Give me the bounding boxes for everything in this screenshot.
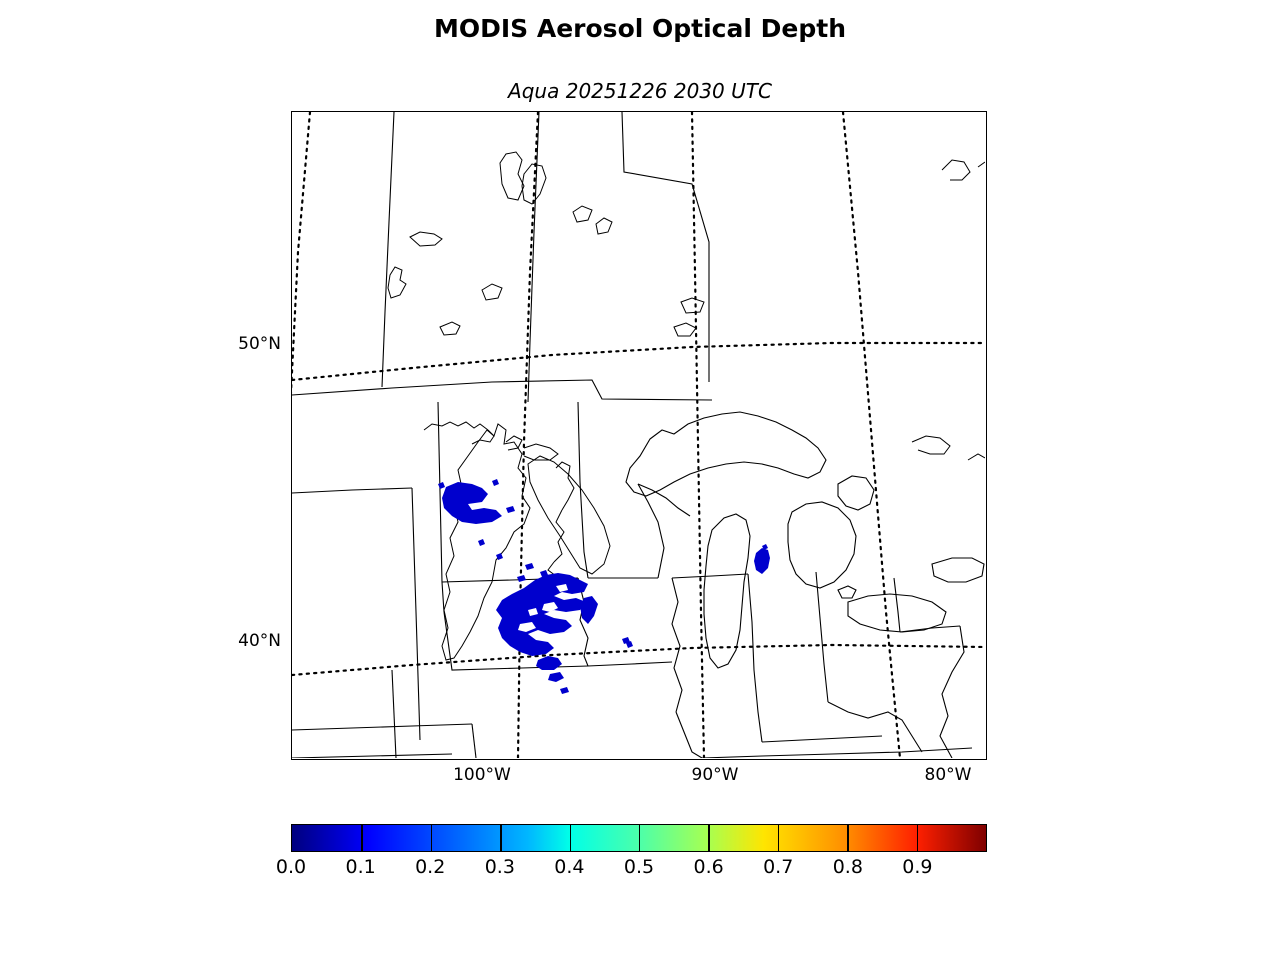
lon-tick-label-100w: 100°W: [422, 765, 542, 785]
map-svg: [292, 112, 985, 758]
lat-tick-label-50n: 50°N: [191, 334, 281, 354]
great-lakes: [626, 412, 984, 668]
colorbar-tick: [361, 825, 362, 851]
colorbar-tick-label: 0.8: [808, 856, 888, 878]
figure-canvas: MODIS Aerosol Optical Depth Aqua 2025122…: [0, 0, 1280, 960]
colorbar-tick: [917, 825, 918, 851]
colorbar-tick-label: 0.6: [669, 856, 749, 878]
colorbar-tick: [431, 825, 432, 851]
us-state-borders: [292, 402, 972, 758]
colorbar-tick-label: 0.0: [251, 856, 331, 878]
colorbar-tick-label: 0.3: [460, 856, 540, 878]
canada-province-borders: [292, 112, 712, 402]
colorbar[interactable]: [291, 824, 987, 852]
colorbar-tick-label: 0.1: [321, 856, 401, 878]
coastline-detail: [424, 160, 985, 576]
lon-tick-label-80w: 80°W: [888, 765, 1008, 785]
colorbar-tick-label: 0.5: [599, 856, 679, 878]
colorbar-tick: [847, 825, 848, 851]
aod-retrieval-pixels: [438, 479, 770, 694]
figure-subtitle: Aqua 20251226 2030 UTC: [0, 79, 1280, 103]
map-plot-area[interactable]: [291, 111, 987, 760]
colorbar-tick: [570, 825, 571, 851]
lon-tick-label-90w: 90°W: [655, 765, 775, 785]
colorbar-tick: [639, 825, 640, 851]
colorbar-tick: [500, 825, 501, 851]
colorbar-tick: [778, 825, 779, 851]
page-title: MODIS Aerosol Optical Depth: [0, 14, 1280, 43]
colorbar-tick-label: 0.4: [529, 856, 609, 878]
colorbar-tick-label: 0.2: [390, 856, 470, 878]
lat-tick-label-40n: 40°N: [191, 631, 281, 651]
graticule-lines: [292, 112, 985, 758]
colorbar-tick-label: 0.7: [738, 856, 818, 878]
colorbar-tick-label: 0.9: [877, 856, 957, 878]
colorbar-tick: [708, 825, 709, 851]
